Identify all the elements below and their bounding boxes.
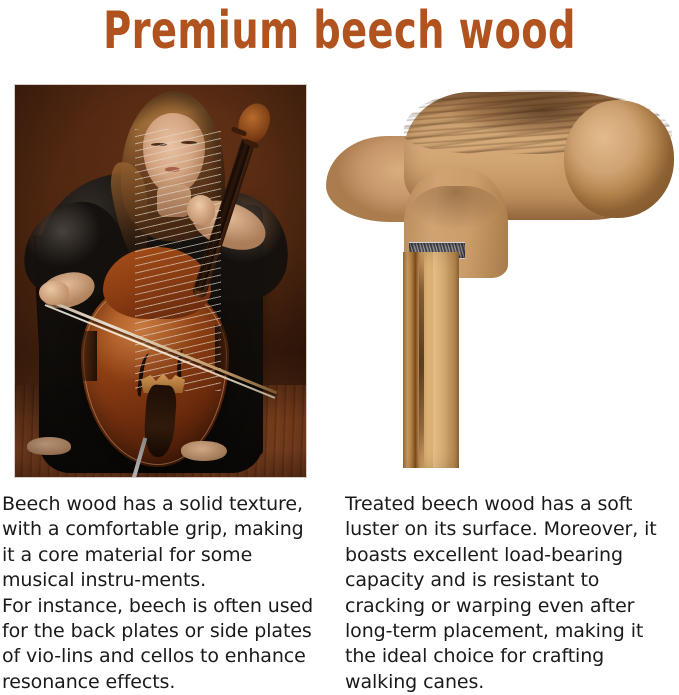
cello-waist-left <box>71 331 97 381</box>
description-row: Beech wood has a solid texture, with a c… <box>0 492 679 680</box>
shaft-highlight <box>433 252 447 468</box>
shaft-grain-streak <box>419 252 424 468</box>
cane-shaft <box>403 252 459 468</box>
cane-handle-photo <box>320 84 679 480</box>
photo-row <box>0 84 679 480</box>
description-right: Treated beech wood has a soft luster on … <box>345 492 675 695</box>
page-title: Premium beech wood <box>61 0 618 66</box>
cellist-photo <box>14 84 307 478</box>
cane-handle <box>326 90 674 280</box>
bare-foot-left <box>27 437 71 455</box>
bare-foot-right <box>181 441 227 461</box>
hand-holding-bow <box>39 281 69 305</box>
handle-rear-knob <box>564 100 674 218</box>
description-left: Beech wood has a solid texture, with a c… <box>2 492 320 695</box>
hand-on-fingerboard <box>187 195 215 225</box>
